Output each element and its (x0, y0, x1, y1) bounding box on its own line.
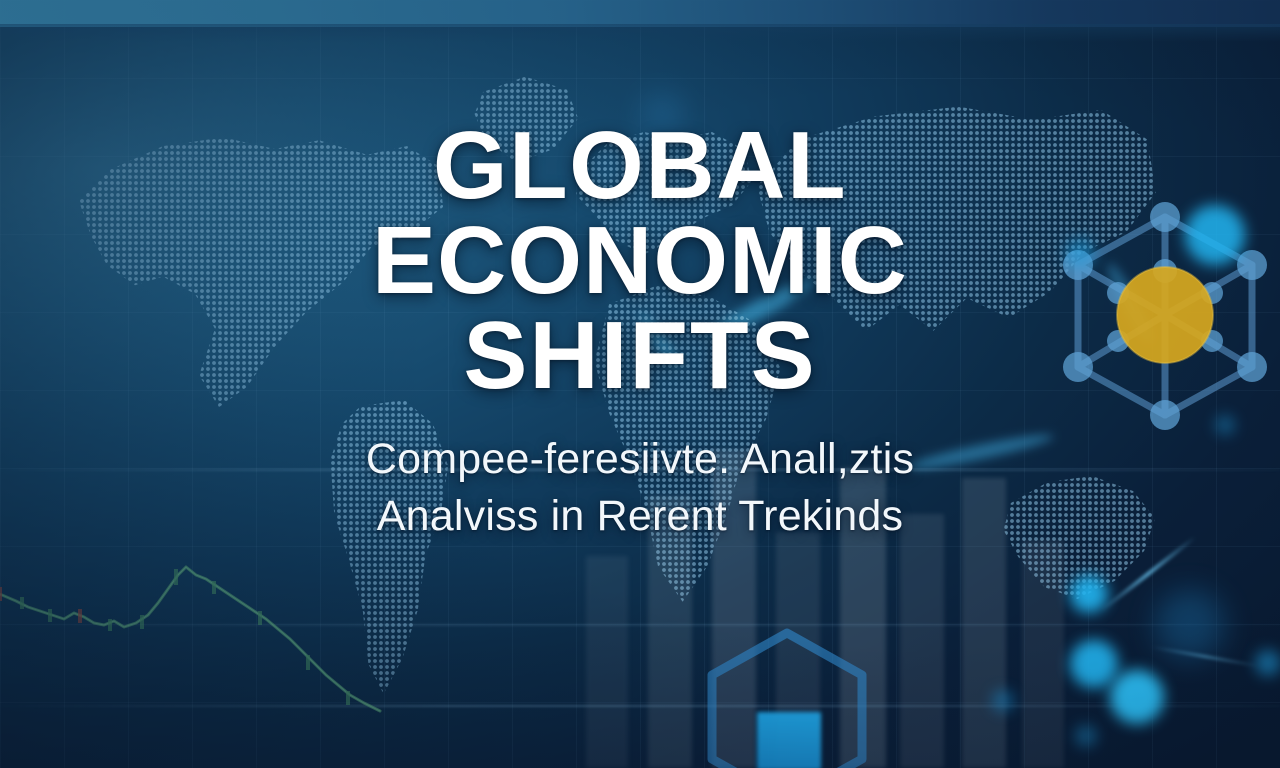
poster-text-block: GLOBAL ECONOMIC SHIFTS Compee-feresiivte… (0, 0, 1280, 768)
page-title-line-2: ECONOMIC (372, 213, 908, 308)
page-subtitle: Compee-feresiivte. Anall,ztis Analviss i… (366, 431, 914, 545)
page-title-line-1: GLOBAL (433, 118, 847, 213)
page-subtitle-line-2: Analviss in Rerent Trekinds (366, 488, 914, 545)
page-title-line-3: SHIFTS (463, 308, 816, 403)
poster-canvas: GLOBAL ECONOMIC SHIFTS Compee-feresiivte… (0, 0, 1280, 768)
page-subtitle-line-1: Compee-feresiivte. Anall,ztis (366, 431, 914, 488)
